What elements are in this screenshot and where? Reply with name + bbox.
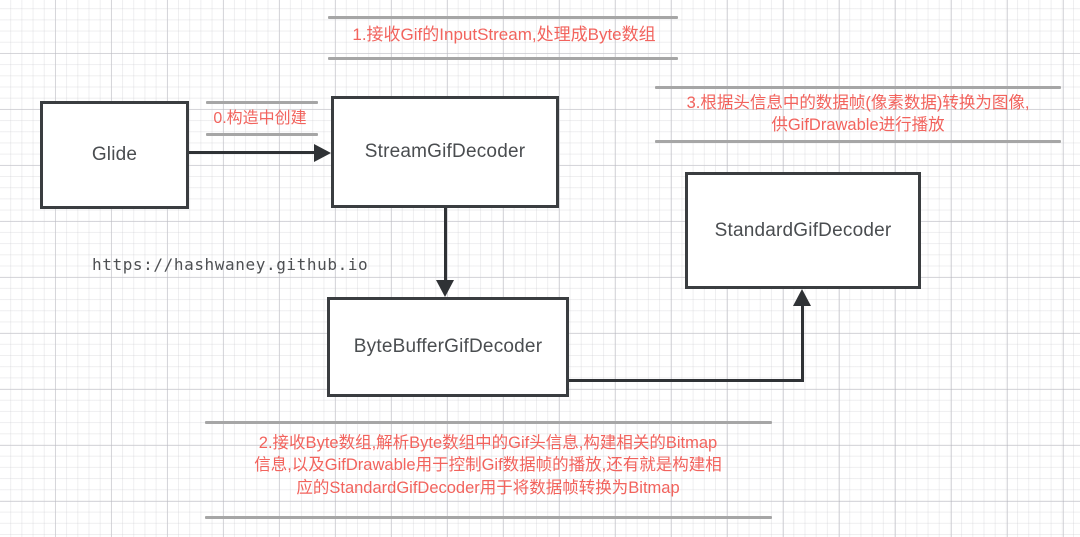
node-byte-buffer-gif-decoder[interactable]: ByteBufferGifDecoder bbox=[327, 297, 569, 397]
annotation-0-rule-bottom bbox=[206, 133, 318, 136]
node-stream-gif-decoder-label: StreamGifDecoder bbox=[365, 141, 526, 163]
annotation-1-rule-top bbox=[328, 16, 678, 19]
annotation-3-line-1: 3.根据头信息中的数据帧(像素数据)转换为图像, bbox=[653, 92, 1063, 114]
annotation-2: 2.接收Byte数组,解析Byte数组中的Gif头信息,构建相关的Bitmap … bbox=[198, 432, 778, 499]
annotation-3-line-2: 供GifDrawable进行播放 bbox=[653, 114, 1063, 136]
annotation-2-line-3: 应的StandardGifDecoder用于将数据帧转换为Bitmap bbox=[198, 477, 778, 499]
node-glide[interactable]: Glide bbox=[40, 101, 189, 209]
annotation-1-rule-bottom bbox=[328, 57, 678, 60]
node-glide-label: Glide bbox=[92, 144, 137, 166]
watermark-url: https://hashwaney.github.io bbox=[92, 255, 368, 274]
arrowhead-up-icon bbox=[793, 289, 811, 306]
annotation-3: 3.根据头信息中的数据帧(像素数据)转换为图像, 供GifDrawable进行播… bbox=[653, 92, 1063, 137]
node-standard-gif-decoder[interactable]: StandardGifDecoder bbox=[685, 172, 921, 289]
node-standard-gif-decoder-label: StandardGifDecoder bbox=[715, 220, 892, 242]
annotation-1-line-1: 1.接收Gif的InputStream,处理成Byte数组 bbox=[326, 24, 682, 47]
annotation-0-line-1: 0.构造中创建 bbox=[200, 108, 320, 130]
annotation-3-rule-bottom bbox=[655, 140, 1061, 143]
annotation-0-rule-top bbox=[206, 101, 318, 104]
connector-bytebuffer-to-standard-horizontal bbox=[569, 379, 804, 382]
arrowhead-down-icon bbox=[436, 280, 454, 297]
connector-stream-to-bytebuffer-line bbox=[444, 208, 447, 282]
connector-glide-to-stream-line bbox=[189, 151, 316, 154]
annotation-3-rule-top bbox=[655, 86, 1061, 89]
connector-bytebuffer-to-standard-vertical bbox=[801, 306, 804, 382]
annotation-0: 0.构造中创建 bbox=[200, 108, 320, 130]
annotation-1: 1.接收Gif的InputStream,处理成Byte数组 bbox=[326, 24, 682, 47]
node-stream-gif-decoder[interactable]: StreamGifDecoder bbox=[331, 96, 559, 208]
annotation-2-rule-bottom bbox=[205, 516, 772, 519]
annotation-2-rule-top bbox=[205, 421, 772, 424]
annotation-2-line-2: 信息,以及GifDrawable用于控制Gif数据帧的播放,还有就是构建相 bbox=[198, 454, 778, 476]
annotation-2-line-1: 2.接收Byte数组,解析Byte数组中的Gif头信息,构建相关的Bitmap bbox=[198, 432, 778, 454]
diagram-canvas: Glide StreamGifDecoder ByteBufferGifDeco… bbox=[0, 0, 1080, 537]
node-byte-buffer-gif-decoder-label: ByteBufferGifDecoder bbox=[354, 336, 542, 358]
arrowhead-right-icon bbox=[314, 144, 331, 162]
